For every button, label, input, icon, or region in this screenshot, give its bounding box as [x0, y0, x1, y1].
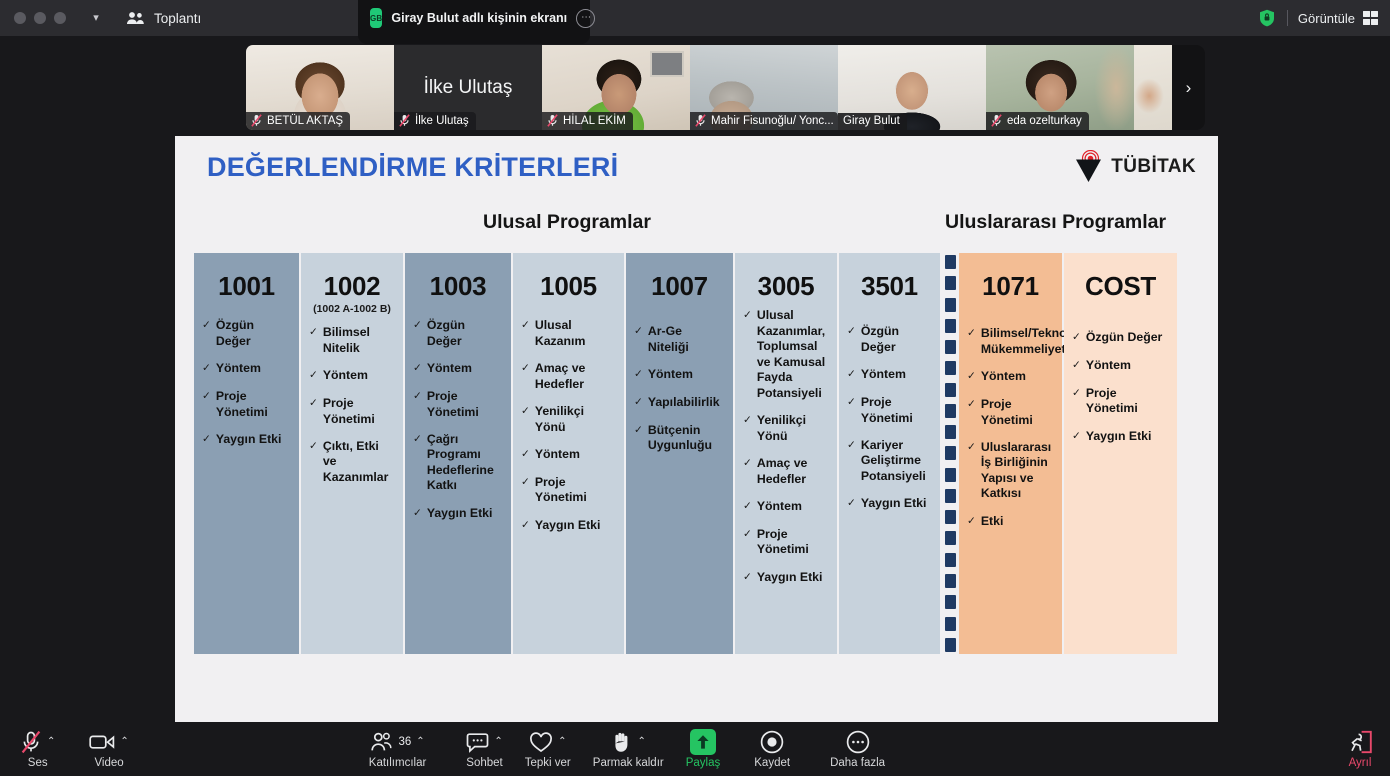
criteria-list-item: ✓Bütçenin Uygunluğu [634, 423, 725, 454]
separator-dash [945, 276, 956, 290]
view-layout-button[interactable]: Görüntüle [1298, 11, 1378, 26]
meeting-toolbar: ⌃Ses ⌃Video 36⌃Katılımcılar ⌃Sohbet ⌃Tep… [0, 722, 1390, 776]
microphone-muted-icon [20, 730, 42, 754]
check-icon: ✓ [521, 518, 530, 534]
participant-name: İlke Ulutaş [415, 115, 469, 127]
check-icon: ✓ [413, 432, 422, 448]
separator-dash [945, 489, 956, 503]
screen-share-tab-label: Giray Bulut adlı kişinin ekranı [391, 11, 567, 25]
check-icon: ✓ [967, 440, 976, 456]
criteria-label: Özgün Değer [1086, 330, 1169, 345]
check-icon: ✓ [743, 499, 752, 515]
criteria-list-item: ✓Yapılabilirlik [634, 395, 725, 411]
check-icon: ✓ [521, 447, 530, 463]
criteria-list-item: ✓Bilimsel/Teknolojik Mükemmeliyet [967, 326, 1054, 357]
group-separator-dashed-line [942, 253, 959, 654]
toolbar-button-parmak-kaldır[interactable]: ⌃Parmak kaldır [593, 729, 664, 769]
check-icon: ✓ [967, 397, 976, 413]
criteria-list-item: ✓Yöntem [413, 361, 503, 377]
toolbar-button-label: Paylaş [686, 757, 721, 769]
criteria-column-1003: 1003✓Özgün Değer✓Yöntem✓Proje Yönetimi✓Ç… [405, 253, 513, 654]
microphone-muted-icon [399, 114, 410, 127]
check-icon: ✓ [847, 367, 856, 383]
participant-name-badge: HİLAL EKİM [542, 112, 633, 130]
criteria-column-3005: 3005✓Ulusal Kazanımlar, Toplumsal ve Kam… [735, 253, 839, 654]
toolbar-button-label: Tepki ver [525, 757, 571, 769]
view-label: Görüntüle [1298, 11, 1355, 26]
participant-name-badge: eda ozelturkay [986, 112, 1089, 130]
criteria-list: ✓Ulusal Kazanım✓Amaç ve Hedefler✓Yenilik… [513, 318, 624, 533]
tubitak-logo: TÜBİTAK [1074, 150, 1196, 184]
zoom-meeting-window: ▾ Toplantı GB Giray Bulut adlı kişinin e… [0, 0, 1390, 776]
toolbar-button-daha-fazla[interactable]: Daha fazla [830, 729, 885, 769]
avatar: GB [370, 8, 382, 28]
meeting-label-text: Toplantı [154, 11, 201, 26]
video-tile[interactable]: eda ozelturkay [986, 45, 1134, 130]
criteria-label: Yaygın Etki [757, 570, 829, 585]
toolbar-button-icon-row [846, 729, 870, 755]
separator-dash [945, 638, 956, 652]
toolbar-button-label: Kaydet [754, 757, 790, 769]
check-icon: ✓ [743, 570, 752, 586]
leave-meeting-button[interactable]: Ayrıl [1346, 729, 1374, 769]
criteria-list-item: ✓Proje Yönetimi [309, 396, 395, 427]
check-icon: ✓ [413, 389, 422, 405]
separator-dash [945, 574, 956, 588]
participant-name-badge: Giray Bulut [838, 113, 907, 130]
criteria-label: Ulusal Kazanımlar, Toplumsal ve Kamusal … [757, 308, 829, 401]
toolbar-button-icon-row: ⌃ [529, 729, 566, 755]
check-icon: ✓ [309, 368, 318, 384]
more-horizontal-icon[interactable]: ⋯ [576, 9, 595, 28]
criteria-label: Yöntem [861, 367, 932, 382]
criteria-list-item: ✓Kariyer Geliştirme Potansiyeli [847, 438, 932, 484]
column-program-code: 1001 [194, 253, 299, 300]
criteria-label: Proje Yönetimi [427, 389, 503, 420]
microphone-muted-icon [547, 114, 558, 127]
separator-dash [945, 298, 956, 312]
check-icon: ✓ [967, 369, 976, 385]
criteria-label: Ulusal Kazanım [535, 318, 616, 349]
column-program-code: 1071 [959, 253, 1062, 300]
criteria-list-item: ✓Yöntem [634, 367, 725, 383]
chevron-up-icon[interactable]: ⌃ [494, 737, 502, 747]
tubitak-logo-icon [1074, 150, 1104, 184]
criteria-column-1005: 1005✓Ulusal Kazanım✓Amaç ve Hedefler✓Yen… [513, 253, 626, 654]
criteria-label: Yaygın Etki [535, 518, 616, 533]
check-icon: ✓ [309, 396, 318, 412]
criteria-list-item: ✓Proje Yönetimi [967, 397, 1054, 428]
shared-screen-content: DEĞERLENDİRME KRİTERLERİ TÜBİTAK Ulusal … [175, 136, 1218, 722]
record-icon [760, 730, 784, 754]
separator-dash [945, 617, 956, 631]
criteria-list-item: ✓Proje Yönetimi [1072, 386, 1169, 417]
criteria-label: Bilimsel Nitelik [323, 325, 395, 356]
screen-share-tab[interactable]: GB Giray Bulut adlı kişinin ekranı ⋯ [358, 0, 590, 44]
criteria-label: Bütçenin Uygunluğu [648, 423, 725, 454]
column-program-code: 3501 [839, 253, 940, 300]
criteria-list-item: ✓Amaç ve Hedefler [743, 456, 829, 487]
separator-dash [945, 383, 956, 397]
criteria-list-item: ✓Yöntem [847, 367, 932, 383]
criteria-list-item: ✓Özgün Değer [1072, 330, 1169, 346]
check-icon: ✓ [847, 496, 856, 512]
leave-icon-row [1346, 729, 1374, 755]
leave-meeting-icon [1346, 730, 1374, 754]
separator-dash [945, 531, 956, 545]
separator-dash [945, 255, 956, 269]
check-icon: ✓ [309, 439, 318, 455]
criteria-label: Yenilikçi Yönü [535, 404, 616, 435]
tubitak-logo-text: TÜBİTAK [1111, 156, 1196, 178]
criteria-list: ✓Özgün Değer✓Yöntem✓Proje Yönetimi✓Yaygı… [1064, 330, 1177, 444]
video-camera-icon [89, 732, 115, 752]
participants-icon [370, 732, 393, 752]
criteria-label: Amaç ve Hedefler [757, 456, 829, 487]
share-screen-icon [690, 729, 716, 755]
check-icon: ✓ [413, 506, 422, 522]
criteria-list: ✓Özgün Değer✓Yöntem✓Proje Yönetimi✓Yaygı… [194, 318, 299, 447]
criteria-label: Yapılabilirlik [648, 395, 725, 410]
criteria-list-item: ✓Yöntem [202, 361, 291, 377]
criteria-list-item: ✓Bilimsel Nitelik [309, 325, 395, 356]
separator-dash [945, 510, 956, 524]
criteria-list-item: ✓Yöntem [1072, 358, 1169, 374]
toolbar-button-label: Sohbet [466, 757, 502, 769]
criteria-label: Kariyer Geliştirme Potansiyeli [861, 438, 932, 484]
check-icon: ✓ [521, 318, 530, 334]
leave-meeting-label: Ayrıl [1349, 757, 1372, 769]
criteria-list-item: ✓Yaygın Etki [202, 432, 291, 448]
check-icon: ✓ [202, 361, 211, 377]
chevron-up-icon[interactable]: ⌃ [558, 737, 566, 747]
check-icon: ✓ [743, 413, 752, 429]
criteria-list: ✓Ulusal Kazanımlar, Toplumsal ve Kamusal… [735, 308, 837, 585]
column-program-code: 1007 [626, 253, 733, 300]
criteria-list-item: ✓Yaygın Etki [743, 570, 829, 586]
check-icon: ✓ [743, 456, 752, 472]
criteria-list-item: ✓Amaç ve Hedefler [521, 361, 616, 392]
check-icon: ✓ [521, 475, 530, 491]
column-program-code: 3005 [735, 253, 837, 300]
criteria-label: Özgün Değer [427, 318, 503, 349]
microphone-muted-icon [251, 114, 262, 127]
criteria-label: Proje Yönetimi [323, 396, 395, 427]
group-header-international: Uluslararası Programlar [945, 211, 1166, 234]
toolbar-button-icon-row: ⌃ [20, 729, 55, 755]
toolbar-button-katılımcılar[interactable]: 36⌃Katılımcılar [369, 729, 427, 769]
criteria-list-item: ✓Ar-Ge Niteliği [634, 324, 725, 355]
criteria-list-item: ✓Yöntem [309, 368, 395, 384]
separator-dash [945, 595, 956, 609]
criteria-list: ✓Bilimsel Nitelik✓Yöntem✓Proje Yönetimi✓… [301, 325, 403, 485]
criteria-list-item: ✓Yenilikçi Yönü [521, 404, 616, 435]
grid-layout-icon [1363, 11, 1378, 25]
participant-name: BETÜL AKTAŞ [267, 115, 343, 127]
check-icon: ✓ [202, 432, 211, 448]
meeting-info-label[interactable]: Toplantı [126, 11, 201, 26]
criteria-label: Yöntem [981, 369, 1054, 384]
close-window-button[interactable] [14, 12, 26, 24]
criteria-list-item: ✓Yaygın Etki [847, 496, 932, 512]
criteria-label: Yaygın Etki [427, 506, 503, 521]
chevron-up-icon[interactable]: ⌃ [47, 737, 55, 747]
participant-name: Giray Bulut [843, 115, 900, 127]
participant-name: eda ozelturkay [1007, 115, 1082, 127]
criteria-column-1001: 1001✓Özgün Değer✓Yöntem✓Proje Yönetimi✓Y… [194, 253, 301, 654]
criteria-list-item: ✓Uluslararası İş Birliğinin Yapısı ve Ka… [967, 440, 1054, 502]
check-icon: ✓ [202, 389, 211, 405]
participant-name-badge: İlke Ulutaş [394, 112, 476, 130]
check-icon: ✓ [1072, 386, 1081, 402]
criteria-list-item: ✓Yaygın Etki [521, 518, 616, 534]
check-icon: ✓ [309, 325, 318, 341]
toolbar-button-icon-row: ⌃ [89, 729, 128, 755]
criteria-column-1071: 1071✓Bilimsel/Teknolojik Mükemmeliyet✓Yö… [959, 253, 1064, 654]
criteria-list: ✓Özgün Değer✓Yöntem✓Proje Yönetimi✓Kariy… [839, 324, 940, 512]
check-icon: ✓ [634, 423, 643, 439]
group-header-national: Ulusal Programlar [483, 211, 651, 234]
check-icon: ✓ [1072, 429, 1081, 445]
page-title: DEĞERLENDİRME KRİTERLERİ [207, 152, 618, 183]
divider [1287, 10, 1288, 26]
criteria-column-1002: 1002(1002 A-1002 B)✓Bilimsel Nitelik✓Yön… [301, 253, 405, 654]
criteria-list-item: ✓Etki [967, 514, 1054, 530]
check-icon: ✓ [202, 318, 211, 334]
criteria-label: Proje Yönetimi [757, 527, 829, 558]
toolbar-button-icon-row: 36⌃ [370, 729, 424, 755]
toolbar-button-tepki-ver[interactable]: ⌃Tepki ver [525, 729, 571, 769]
check-icon: ✓ [847, 324, 856, 340]
criteria-label: Yöntem [216, 361, 291, 376]
criteria-label: Amaç ve Hedefler [535, 361, 616, 392]
microphone-muted-icon [991, 114, 1002, 127]
toolbar-button-video[interactable]: ⌃Video [89, 729, 128, 769]
chat-bubble-icon [466, 732, 489, 753]
chevron-up-icon[interactable]: ⌃ [120, 737, 128, 747]
criteria-list-item: ✓Yaygın Etki [1072, 429, 1169, 445]
toolbar-button-label: Video [94, 757, 123, 769]
check-icon: ✓ [1072, 358, 1081, 374]
check-icon: ✓ [967, 514, 976, 530]
toolbar-button-kaydet[interactable]: Kaydet [754, 729, 790, 769]
chevron-up-icon[interactable]: ⌃ [638, 737, 646, 747]
participants-count-badge: 36 [398, 736, 411, 748]
criteria-list-item: ✓Çıktı, Etki ve Kazanımlar [309, 439, 395, 485]
check-icon: ✓ [847, 395, 856, 411]
shield-lock-icon[interactable] [1257, 8, 1277, 28]
toolbar-button-icon-row [760, 729, 784, 755]
criteria-list-item: ✓Proje Yönetimi [847, 395, 932, 426]
decorative-wall-frame [650, 51, 684, 77]
check-icon: ✓ [634, 324, 643, 340]
group-headers: Ulusal Programlar Uluslararası Programla… [175, 211, 1218, 247]
criteria-column-1007: 1007✓Ar-Ge Niteliği✓Yöntem✓Yapılabilirli… [626, 253, 735, 654]
criteria-label: Uluslararası İş Birliğinin Yapısı ve Kat… [981, 440, 1054, 502]
criteria-label: Yaygın Etki [1086, 429, 1169, 444]
column-program-subcode: (1002 A-1002 B) [301, 303, 403, 315]
participant-name: Mahir Fisunoğlu/ Yonc... [711, 115, 834, 127]
criteria-label: Proje Yönetimi [981, 397, 1054, 428]
criteria-label: Yaygın Etki [216, 432, 291, 447]
check-icon: ✓ [413, 361, 422, 377]
raise-hand-icon [611, 730, 633, 754]
participant-filmstrip: BETÜL AKTAŞ İlke Ulutaş İlke Ulutaş [246, 45, 1205, 130]
criteria-list-item: ✓Ulusal Kazanım [521, 318, 616, 349]
chevron-up-icon[interactable]: ⌃ [416, 737, 424, 747]
check-icon: ✓ [521, 404, 530, 420]
criteria-list-item: ✓Yöntem [743, 499, 829, 515]
toolbar-button-label: Daha fazla [830, 757, 885, 769]
criteria-label: Yenilikçi Yönü [757, 413, 829, 444]
criteria-list-item: ✓Proje Yönetimi [743, 527, 829, 558]
criteria-list-item: ✓Çağrı Programı Hedeflerine Katkı [413, 432, 503, 494]
chevron-down-icon[interactable]: ▾ [88, 13, 104, 24]
maximize-window-button[interactable] [54, 12, 66, 24]
criteria-label: Yöntem [648, 367, 725, 382]
check-icon: ✓ [743, 308, 752, 324]
video-tile-active-speaker[interactable]: Giray Bulut [838, 45, 986, 130]
criteria-label: Proje Yönetimi [535, 475, 616, 506]
criteria-list-item: ✓Proje Yönetimi [521, 475, 616, 506]
window-controls[interactable] [14, 12, 66, 24]
participant-name: HİLAL EKİM [563, 115, 626, 127]
criteria-list-item: ✓Proje Yönetimi [413, 389, 503, 420]
separator-dash [945, 340, 956, 354]
criteria-label: Özgün Değer [861, 324, 932, 355]
criteria-list: ✓Bilimsel/Teknolojik Mükemmeliyet✓Yöntem… [959, 326, 1062, 529]
criteria-label: Proje Yönetimi [861, 395, 932, 426]
criteria-label: Yöntem [1086, 358, 1169, 373]
criteria-label: Yöntem [757, 499, 829, 514]
column-program-code: 1002 [301, 253, 403, 300]
microphone-muted-icon [695, 114, 706, 127]
check-icon: ✓ [413, 318, 422, 334]
criteria-label: Proje Yönetimi [1086, 386, 1169, 417]
criteria-list-item: ✓Yaygın Etki [413, 506, 503, 522]
video-tile[interactable]: BETÜL AKTAŞ [246, 45, 394, 130]
titlebar-right-controls: Görüntüle [1257, 0, 1378, 36]
criteria-list: ✓Ar-Ge Niteliği✓Yöntem✓Yapılabilirlik✓Bü… [626, 324, 733, 453]
check-icon: ✓ [634, 395, 643, 411]
criteria-list-item: ✓Özgün Değer [202, 318, 291, 349]
criteria-table: 1001✓Özgün Değer✓Yöntem✓Proje Yönetimi✓Y… [194, 253, 1199, 654]
criteria-list-item: ✓Yenilikçi Yönü [743, 413, 829, 444]
video-tile[interactable] [1134, 45, 1172, 130]
more-circle-icon [846, 730, 870, 754]
column-program-code: 1005 [513, 253, 624, 300]
criteria-label: Yöntem [323, 368, 395, 383]
toolbar-button-sohbet[interactable]: ⌃Sohbet [466, 729, 502, 769]
column-program-code: 1003 [405, 253, 511, 300]
video-tile[interactable]: İlke Ulutaş İlke Ulutaş [394, 45, 542, 130]
criteria-label: Özgün Değer [216, 318, 291, 349]
participants-group-icon [126, 11, 145, 25]
window-title-bar: ▾ Toplantı GB Giray Bulut adlı kişinin e… [0, 0, 1390, 36]
criteria-list-item: ✓Proje Yönetimi [202, 389, 291, 420]
toolbar-button-label: Katılımcılar [369, 757, 427, 769]
criteria-label: Çıktı, Etki ve Kazanımlar [323, 439, 395, 485]
criteria-label: Yaygın Etki [861, 496, 932, 511]
check-icon: ✓ [521, 361, 530, 377]
criteria-list: ✓Özgün Değer✓Yöntem✓Proje Yönetimi✓Çağrı… [405, 318, 511, 521]
toolbar-button-icon-row: ⌃ [611, 729, 646, 755]
separator-dash [945, 404, 956, 418]
check-icon: ✓ [634, 367, 643, 383]
separator-dash [945, 553, 956, 567]
criteria-label: Etki [981, 514, 1054, 529]
criteria-list-item: ✓Yöntem [521, 447, 616, 463]
participant-name-badge: BETÜL AKTAŞ [246, 112, 350, 130]
separator-dash [945, 319, 956, 333]
check-icon: ✓ [743, 527, 752, 543]
criteria-list-item: ✓Yöntem [967, 369, 1054, 385]
video-tile[interactable]: Mahir Fisunoğlu/ Yonc... [690, 45, 838, 130]
toolbar-button-label: Ses [28, 757, 48, 769]
check-icon: ✓ [1072, 330, 1081, 346]
minimize-window-button[interactable] [34, 12, 46, 24]
column-program-code: COST [1064, 253, 1177, 300]
participant-video [1134, 45, 1172, 130]
separator-dash [945, 361, 956, 375]
criteria-list-item: ✓Ulusal Kazanımlar, Toplumsal ve Kamusal… [743, 308, 829, 401]
toolbar-button-icon-row: ⌃ [466, 729, 502, 755]
separator-dash [945, 446, 956, 460]
check-icon: ✓ [847, 438, 856, 454]
toolbar-button-icon-row [690, 729, 716, 755]
chevron-right-icon[interactable]: › [1172, 45, 1205, 130]
criteria-label: Proje Yönetimi [216, 389, 291, 420]
toolbar-button-ses[interactable]: ⌃Ses [20, 729, 55, 769]
participant-name-badge: Mahir Fisunoğlu/ Yonc... [690, 112, 838, 130]
heart-icon [529, 732, 553, 753]
criteria-label: Yöntem [535, 447, 616, 462]
criteria-label: Çağrı Programı Hedeflerine Katkı [427, 432, 503, 494]
criteria-list-item: ✓Özgün Değer [847, 324, 932, 355]
separator-dash [945, 468, 956, 482]
criteria-label: Yöntem [427, 361, 503, 376]
video-tile[interactable]: HİLAL EKİM [542, 45, 690, 130]
toolbar-button-paylaş[interactable]: Paylaş [686, 729, 721, 769]
criteria-label: Ar-Ge Niteliği [648, 324, 725, 355]
criteria-list-item: ✓Özgün Değer [413, 318, 503, 349]
check-icon: ✓ [967, 326, 976, 342]
separator-dash [945, 425, 956, 439]
toolbar-button-label: Parmak kaldır [593, 757, 664, 769]
criteria-column-3501: 3501✓Özgün Değer✓Yöntem✓Proje Yönetimi✓K… [839, 253, 942, 654]
criteria-column-cost: COST✓Özgün Değer✓Yöntem✓Proje Yönetimi✓Y… [1064, 253, 1179, 654]
